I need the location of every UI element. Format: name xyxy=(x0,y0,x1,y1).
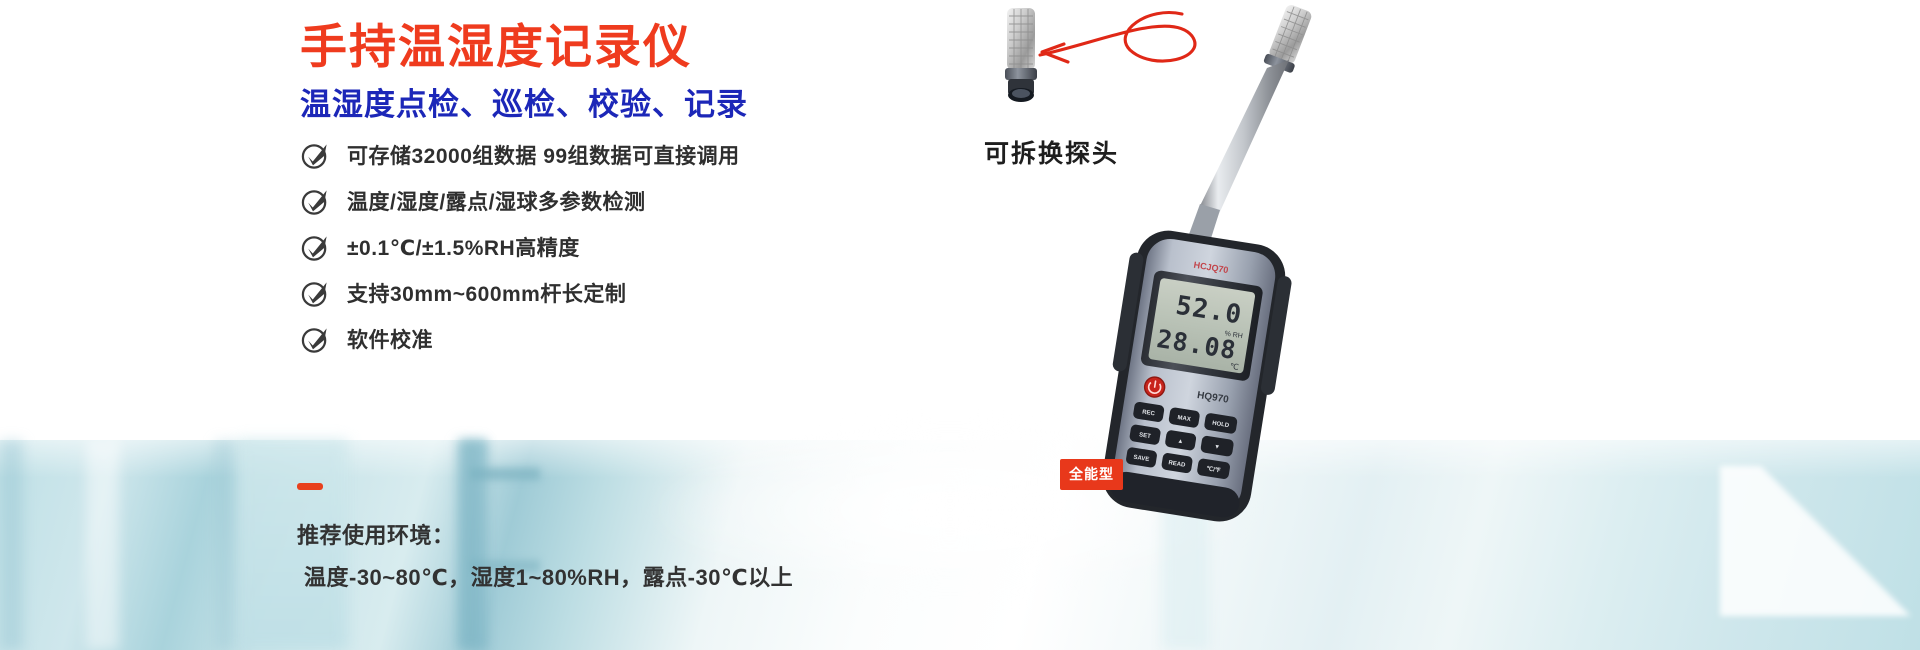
product-banner: 手持温湿度记录仪 温湿度点检、巡检、校验、记录 可存储32000组数据 99组数… xyxy=(0,0,1920,650)
list-item-label: 软件校准 xyxy=(347,324,433,354)
list-item-label: 温度/湿度/露点/湿球多参数检测 xyxy=(347,186,646,216)
check-circle-icon xyxy=(300,324,331,355)
probe-callout-label: 可拆换探头 xyxy=(984,134,1119,170)
list-item: 支持30mm~600mm杆长定制 xyxy=(300,270,920,316)
list-item-label: 支持30mm~600mm杆长定制 xyxy=(347,278,626,308)
note-heading: 推荐使用环境： xyxy=(297,518,455,550)
note-detail: 温度-30~80℃，湿度1~80%RH，露点-30℃以上 xyxy=(304,560,793,592)
list-item: 软件校准 xyxy=(300,316,920,362)
list-item: 温度/湿度/露点/湿球多参数检测 xyxy=(300,178,920,224)
feature-list: 可存储32000组数据 99组数据可直接调用 温度/湿度/露点/湿球多参数检测 … xyxy=(300,132,920,362)
page-subtitle: 温湿度点检、巡检、校验、记录 xyxy=(300,79,748,124)
detached-probe xyxy=(1005,8,1037,102)
check-circle-icon xyxy=(300,278,331,309)
lcd-temperature-unit: ℃ xyxy=(1229,362,1239,372)
check-circle-icon xyxy=(300,186,331,217)
note-dash-divider xyxy=(297,483,323,490)
svg-text:▲: ▲ xyxy=(1177,438,1184,445)
page-title: 手持温湿度记录仪 xyxy=(300,8,692,77)
list-item-label: 可存储32000组数据 99组数据可直接调用 xyxy=(347,140,740,170)
photo-pane-divider xyxy=(460,440,488,650)
status-badge: 全能型 xyxy=(1060,459,1123,490)
check-circle-icon xyxy=(300,140,331,171)
check-circle-icon xyxy=(300,232,331,263)
list-item: 可存储32000组数据 99组数据可直接调用 xyxy=(300,132,920,178)
list-item: ±0.1℃/±1.5%RH高精度 xyxy=(300,224,920,270)
product-photo: HCJQ70 52.0 % RH 28.08 ℃ HQ970 xyxy=(940,0,1920,650)
red-arrow-icon xyxy=(1040,13,1195,62)
list-item-label: ±0.1℃/±1.5%RH高精度 xyxy=(347,232,580,262)
svg-text:▼: ▼ xyxy=(1214,444,1221,451)
photo-shelf-upper xyxy=(470,468,540,480)
attached-probe-head xyxy=(1263,3,1315,74)
